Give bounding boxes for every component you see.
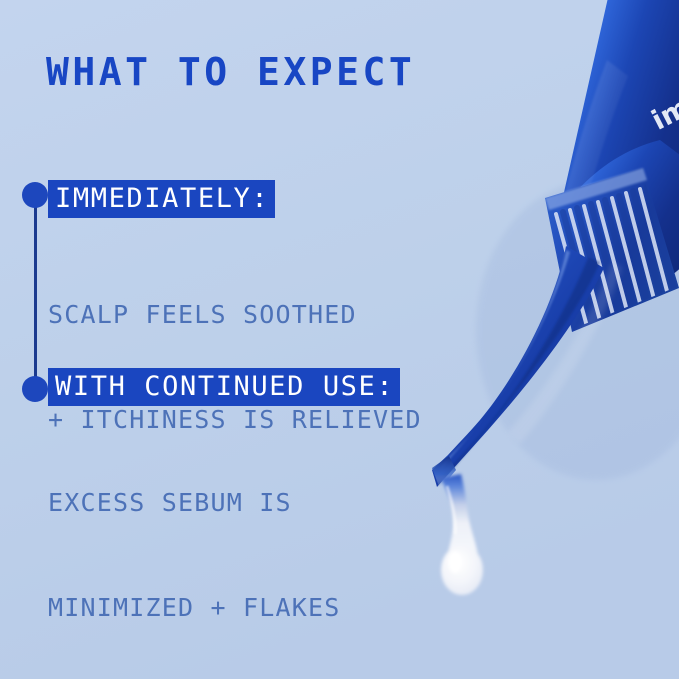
- body-line: EXCESS SEBUM IS: [48, 485, 400, 520]
- body-line: MINIMIZED + FLAKES: [48, 590, 400, 625]
- marketing-image: im: [0, 0, 679, 679]
- svg-text:im: im: [647, 92, 679, 137]
- timeline-dot-immediately: [22, 182, 48, 208]
- block-title-continued-use: WITH CONTINUED USE:: [48, 368, 400, 406]
- timeline-connector-line: [34, 194, 37, 390]
- bottle-label-text: im: [647, 92, 679, 137]
- serum-droplet: [441, 474, 483, 595]
- block-body-continued-use: EXCESS SEBUM IS MINIMIZED + FLAKES ARE E…: [48, 415, 400, 679]
- timeline-rail: [22, 186, 48, 396]
- body-line: SCALP FEELS SOOTHED: [48, 297, 422, 332]
- page-title: WHAT TO EXPECT: [46, 50, 415, 94]
- expectation-block-continued-use: WITH CONTINUED USE: EXCESS SEBUM IS MINI…: [48, 368, 400, 679]
- timeline-dot-continued: [22, 376, 48, 402]
- block-title-immediately: IMMEDIATELY:: [48, 180, 275, 218]
